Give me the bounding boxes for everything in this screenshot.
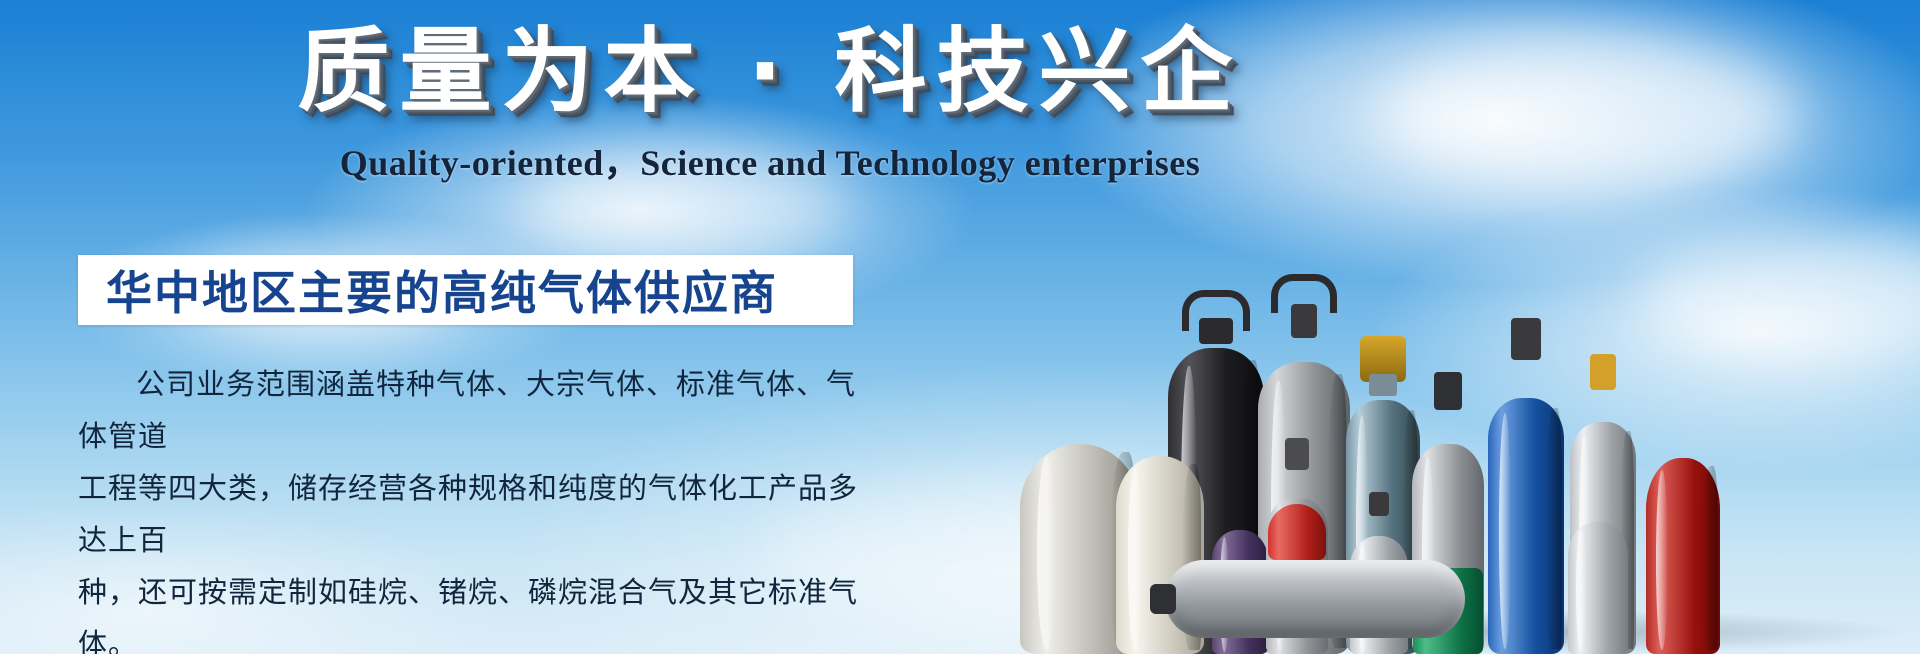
cylinder-valve	[1369, 492, 1389, 516]
cylinder-body	[1488, 398, 1564, 654]
headline-text: 质量为本 · 科技兴企	[297, 16, 1242, 128]
cylinder-red-collar	[1268, 504, 1326, 560]
horizontal-gas-tank	[1165, 560, 1465, 638]
highlight-box: 华中地区主要的高纯气体供应商	[78, 255, 853, 325]
hero-banner: 质量为本 · 科技兴企 Quality-oriented，Science and…	[0, 0, 1920, 654]
horizontal-gas-tank-cap	[1150, 584, 1176, 614]
cylinder-valve	[1434, 372, 1462, 410]
body-line: 种，还可按需定制如硅烷、锗烷、磷烷混合气及其它标准气体。	[78, 566, 878, 654]
cylinder-valve	[1590, 354, 1616, 390]
dark-red-cylinder	[1646, 458, 1720, 654]
cylinder-valve	[1285, 438, 1309, 470]
cylinder-body	[1568, 522, 1628, 654]
cylinder-highlight	[1499, 413, 1511, 649]
headline-container: 质量为本 · 科技兴企	[0, 16, 1540, 128]
cylinder-highlight	[1128, 468, 1142, 650]
cylinder-highlight	[1656, 470, 1668, 650]
highlight-text: 华中地区主要的高纯气体供应商	[78, 257, 778, 323]
cylinder-valve	[1511, 318, 1541, 360]
body-line: 工程等四大类，储存经营各种规格和纯度的气体化工产品多达上百	[78, 462, 878, 566]
cylinder-valve	[1199, 318, 1233, 344]
cylinder-highlight	[1037, 457, 1056, 650]
cylinder-highlight	[1576, 530, 1586, 651]
cylinder-valve	[1291, 304, 1317, 338]
cylinder-neck	[1369, 374, 1397, 396]
body-copy: 公司业务范围涵盖特种气体、大宗气体、标准气体、气体管道 工程等四大类，储存经营各…	[78, 358, 878, 654]
cylinder-shadow	[1545, 408, 1562, 649]
blue-tall-cylinder	[1488, 358, 1564, 654]
body-line: 公司业务范围涵盖特种气体、大宗气体、标准气体、气体管道	[78, 358, 878, 462]
silver-small-cylinder	[1568, 522, 1628, 654]
cylinder-body	[1646, 458, 1720, 654]
cylinder-shadow	[1702, 466, 1718, 650]
